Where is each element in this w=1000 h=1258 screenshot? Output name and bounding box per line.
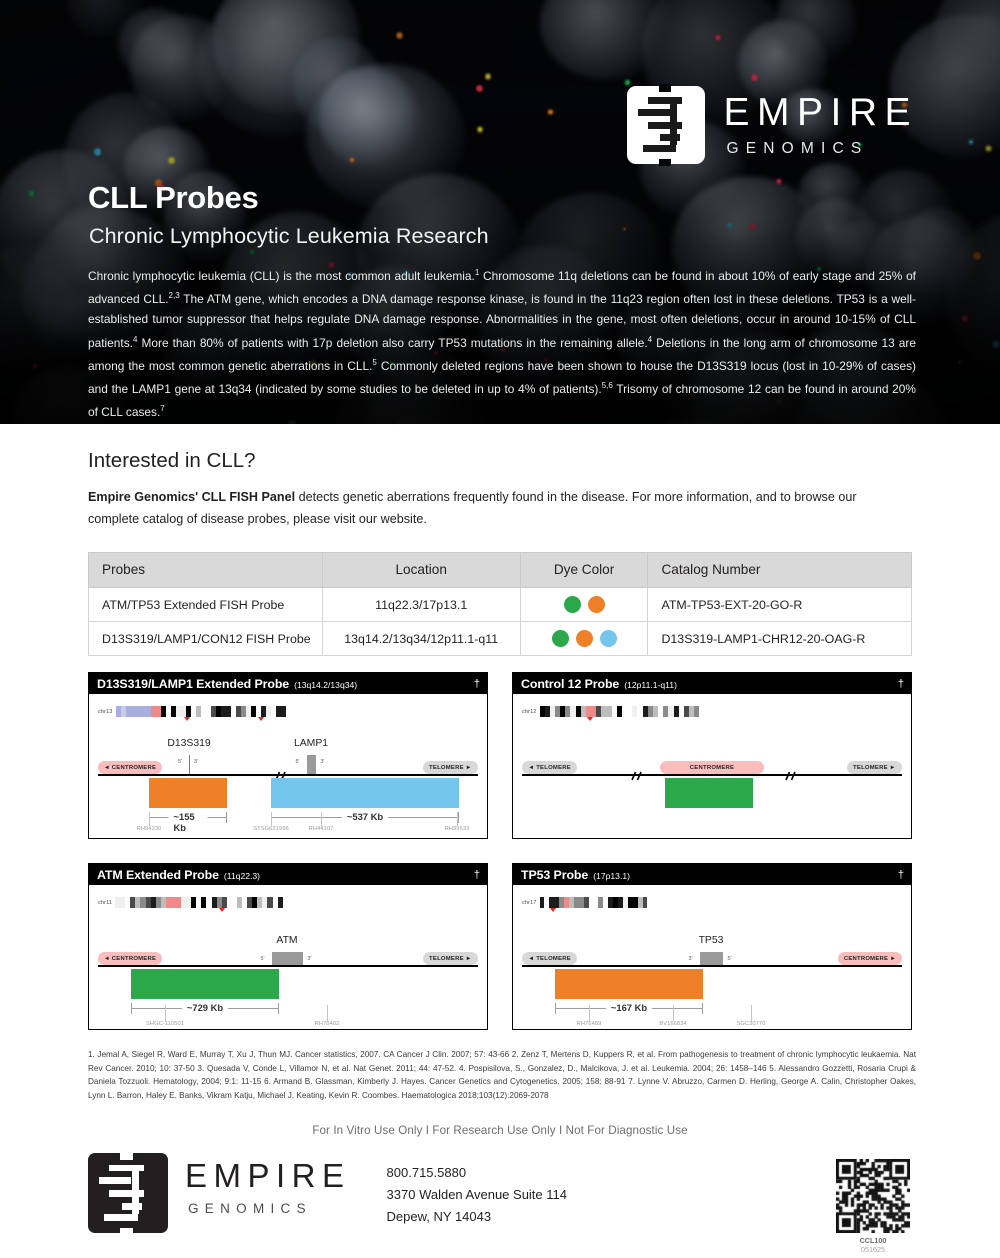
panel-header: D13S319/LAMP1 Extended Probe(13q14.2/13q… (89, 673, 487, 694)
cell-probe-name: ATM/TP53 Extended FISH Probe (89, 588, 323, 622)
footer-address-line1: 3370 Walden Avenue Suite 114 (387, 1184, 567, 1206)
dye-swatch (576, 630, 593, 647)
probe-coverage-bar (665, 778, 753, 808)
sts-marker-label: RH76489 (549, 1021, 629, 1027)
probe-coverage-bar (149, 778, 227, 808)
marker-stem-icon (321, 812, 322, 826)
dye-swatch (600, 630, 617, 647)
header-logo: EMPIRE GENOMICS (627, 86, 918, 164)
gene-body-icon (307, 755, 316, 774)
marker-stem-icon (751, 1005, 752, 1021)
marker-stem-icon (673, 1005, 674, 1021)
ideogram-probe-marker-icon (219, 908, 225, 912)
marker-stem-icon (165, 1005, 166, 1021)
document-date: 051625 (836, 1245, 910, 1254)
chromosome-label: chr17 (522, 900, 537, 906)
chromosome-axis (522, 774, 902, 776)
dye-swatch (552, 630, 569, 647)
probe-size-measure: ~537 Kb (271, 812, 459, 824)
panel-title: ATM Extended Probe (97, 868, 219, 882)
probe-size-label: ~537 Kb (342, 811, 388, 822)
col-header-catalog-number: Catalog Number (648, 553, 912, 588)
main-content: Interested in CLL? Empire Genomics' CLL … (0, 449, 1000, 1258)
ideogram-band (281, 706, 286, 717)
three-prime-label: 3' (194, 759, 198, 765)
page-title: CLL Probes (88, 180, 258, 216)
centromere-label: CENTROMERE ► (838, 952, 902, 965)
cell-location: 11q22.3/17p13.1 (322, 588, 520, 622)
probe-coverage-bar (271, 778, 459, 808)
panel-body: chr12◄ TELOMERETELOMERE ►CENTROMERE (513, 694, 911, 838)
marker-stem-icon (327, 1005, 328, 1021)
chromosome-axis (522, 965, 902, 967)
dagger-footnote-icon: † (474, 678, 480, 690)
page-subtitle: Chronic Lymphocytic Leukemia Research (89, 224, 489, 249)
header-description: Chronic lymphocytic leukemia (CLL) is th… (88, 263, 916, 422)
ideogram-probe-marker-icon (184, 717, 190, 721)
sts-marker-label: BV166834 (633, 1021, 713, 1027)
qr-code-icon[interactable] (836, 1159, 910, 1233)
sts-marker-label: SGC30770 (711, 1021, 791, 1027)
cell-catalog-number: D13S319-LAMP1-CHR12-20-OAG-R (648, 622, 912, 656)
gene-label: TP53 (671, 935, 751, 946)
five-prime-label: 3' (689, 956, 693, 962)
probe-diagram-panel: TP53 Probe(17p13.1)†chr17◄ TELOMERECENTR… (512, 863, 912, 1030)
footer-phone: 800.715.5880 (387, 1162, 567, 1184)
chromosome-ideogram-icon (540, 706, 705, 717)
gene-body-icon (700, 952, 723, 965)
cell-dye-color (520, 622, 648, 656)
chromosome-axis (98, 965, 478, 967)
table-header-row: Probes Location Dye Color Catalog Number (89, 553, 912, 588)
sts-marker-label: RH78402 (287, 1021, 367, 1027)
gene-label: LAMP1 (271, 738, 351, 749)
footer-brand-tagline: GENOMICS (185, 1202, 351, 1216)
empire-logo-mark-footer-icon (88, 1153, 168, 1233)
panel-title: D13S319/LAMP1 Extended Probe (97, 677, 289, 691)
probe-diagram-panel: D13S319/LAMP1 Extended Probe(13q14.2/13q… (88, 672, 488, 839)
probe-size-measure: ~167 Kb (555, 1003, 703, 1015)
probe-diagrams-grid: D13S319/LAMP1 Extended Probe(13q14.2/13q… (88, 672, 912, 1030)
axis-break-icon (631, 769, 643, 779)
qr-code-block[interactable]: CCL100 051625 (836, 1159, 910, 1254)
dagger-footnote-icon: † (898, 678, 904, 690)
five-prime-label: 5' (296, 759, 300, 765)
probe-size-measure: ~729 Kb (131, 1003, 279, 1015)
col-header-location: Location (322, 553, 520, 588)
footer-brand-name: EMPIRE (185, 1159, 351, 1192)
telomere-label: ◄ TELOMERE (522, 952, 577, 965)
chromosome-label: chr12 (522, 709, 537, 715)
axis-break-icon (785, 769, 797, 779)
cell-location: 13q14.2/13q34/12p11.1-q11 (322, 622, 520, 656)
panel-body: chr13◄ CENTROMERETELOMERE ►D13S3195'3'LA… (89, 694, 487, 838)
panel-title: Control 12 Probe (521, 677, 619, 691)
cell-probe-name: D13S319/LAMP1/CON12 FISH Probe (89, 622, 323, 656)
panel-header: ATM Extended Probe(11q22.3)† (89, 864, 487, 885)
telomere-label: TELOMERE ► (847, 761, 902, 774)
chromosome-axis (98, 774, 478, 776)
ideogram-probe-marker-icon (258, 717, 264, 721)
references-text: 1. Jemal A, Siegel R, Ward E, Murray T, … (88, 1048, 916, 1102)
panel-locus: (13q14.2/13q34) (294, 680, 357, 690)
dagger-footnote-icon: † (474, 869, 480, 881)
three-prime-label: 5' (728, 956, 732, 962)
probe-coverage-bar (555, 969, 703, 999)
sts-marker-label: RH39633 (417, 826, 497, 832)
probe-diagram-panel: ATM Extended Probe(11q22.3)†chr11◄ CENTR… (88, 863, 488, 1030)
probe-diagram-panel: Control 12 Probe(12p11.1-q11)†chr12◄ TEL… (512, 672, 912, 839)
telomere-label: ◄ TELOMERE (522, 761, 577, 774)
col-header-probes: Probes (89, 553, 323, 588)
sts-marker-label: RH44107 (281, 826, 361, 832)
chromosome-label: chr11 (98, 900, 112, 906)
sts-marker-label: SHGC-110501 (125, 1021, 205, 1027)
probe-coverage-bar (131, 969, 279, 999)
ideogram-probe-marker-icon (550, 908, 556, 912)
centromere-label: ◄ CENTROMERE (98, 761, 162, 774)
brand-tagline: GENOMICS (723, 141, 918, 157)
three-prime-label: 3' (308, 956, 312, 962)
brand-name: EMPIRE (723, 93, 918, 132)
use-restriction-note: For In Vitro Use Only I For Research Use… (88, 1124, 912, 1137)
panel-header: Control 12 Probe(12p11.1-q11)† (513, 673, 911, 694)
ideogram-band (699, 706, 704, 717)
document-code: CCL100 (836, 1236, 910, 1245)
empire-logo-mark-icon (627, 86, 705, 164)
gene-label: D13S319 (149, 738, 229, 749)
sts-marker-label: RH94230 (109, 826, 189, 832)
interest-paragraph: Empire Genomics' CLL FISH Panel detects … (88, 486, 893, 530)
dye-swatch (564, 596, 581, 613)
cell-dye-color (520, 588, 648, 622)
table-row: ATM/TP53 Extended FISH Probe11q22.3/17p1… (89, 588, 912, 622)
footer-contact: 800.715.5880 3370 Walden Avenue Suite 11… (387, 1153, 567, 1228)
gene-body-icon (272, 952, 303, 965)
ideogram-probe-marker-icon (587, 717, 593, 721)
panel-title: TP53 Probe (521, 868, 588, 882)
interest-heading: Interested in CLL? (88, 449, 912, 473)
ideogram-band (278, 897, 283, 908)
table-row: D13S319/LAMP1/CON12 FISH Probe13q14.2/13… (89, 622, 912, 656)
marker-stem-icon (457, 812, 458, 826)
five-prime-label: 5' (178, 759, 182, 765)
probe-size-measure: ~155 Kb (149, 812, 227, 824)
five-prime-label: 5' (261, 956, 265, 962)
chromosome-label: chr13 (98, 709, 113, 715)
telomere-label: TELOMERE ► (423, 761, 478, 774)
dagger-footnote-icon: † (898, 869, 904, 881)
telomere-label: TELOMERE ► (423, 952, 478, 965)
centromere-label: CENTROMERE (660, 761, 764, 774)
panel-locus: (11q22.3) (224, 871, 260, 881)
chromosome-ideogram-icon (115, 897, 283, 908)
marker-stem-icon (589, 1005, 590, 1021)
centromere-label: ◄ CENTROMERE (98, 952, 162, 965)
panel-locus: (17p13.1) (593, 871, 630, 881)
locus-line-icon (189, 755, 190, 774)
panel-header: TP53 Probe(17p13.1)† (513, 864, 911, 885)
three-prime-label: 3' (321, 759, 325, 765)
footer-address-line2: Depew, NY 14043 (387, 1206, 567, 1228)
col-header-dye-color: Dye Color (520, 553, 648, 588)
ideogram-band (643, 897, 648, 908)
marker-stem-icon (271, 812, 272, 826)
footer: EMPIRE GENOMICS 800.715.5880 3370 Walden… (88, 1153, 912, 1258)
probe-size-label: ~729 Kb (182, 1002, 228, 1013)
dye-swatch (588, 596, 605, 613)
probes-table: Probes Location Dye Color Catalog Number… (88, 552, 912, 656)
gene-label: ATM (247, 935, 327, 946)
chromosome-ideogram-icon (116, 706, 286, 717)
cell-catalog-number: ATM-TP53-EXT-20-GO-R (648, 588, 912, 622)
panel-locus: (12p11.1-q11) (624, 680, 677, 690)
header-banner: EMPIRE GENOMICS CLL Probes Chronic Lymph… (0, 0, 1000, 424)
panel-body: chr17◄ TELOMERECENTROMERE ►TP533'5'~167 … (513, 885, 911, 1029)
panel-body: chr11◄ CENTROMERETELOMERE ►ATM5'3'~729 K… (89, 885, 487, 1029)
chromosome-ideogram-icon (540, 897, 648, 908)
probe-size-label: ~167 Kb (606, 1002, 652, 1013)
marker-stem-icon (149, 812, 150, 826)
